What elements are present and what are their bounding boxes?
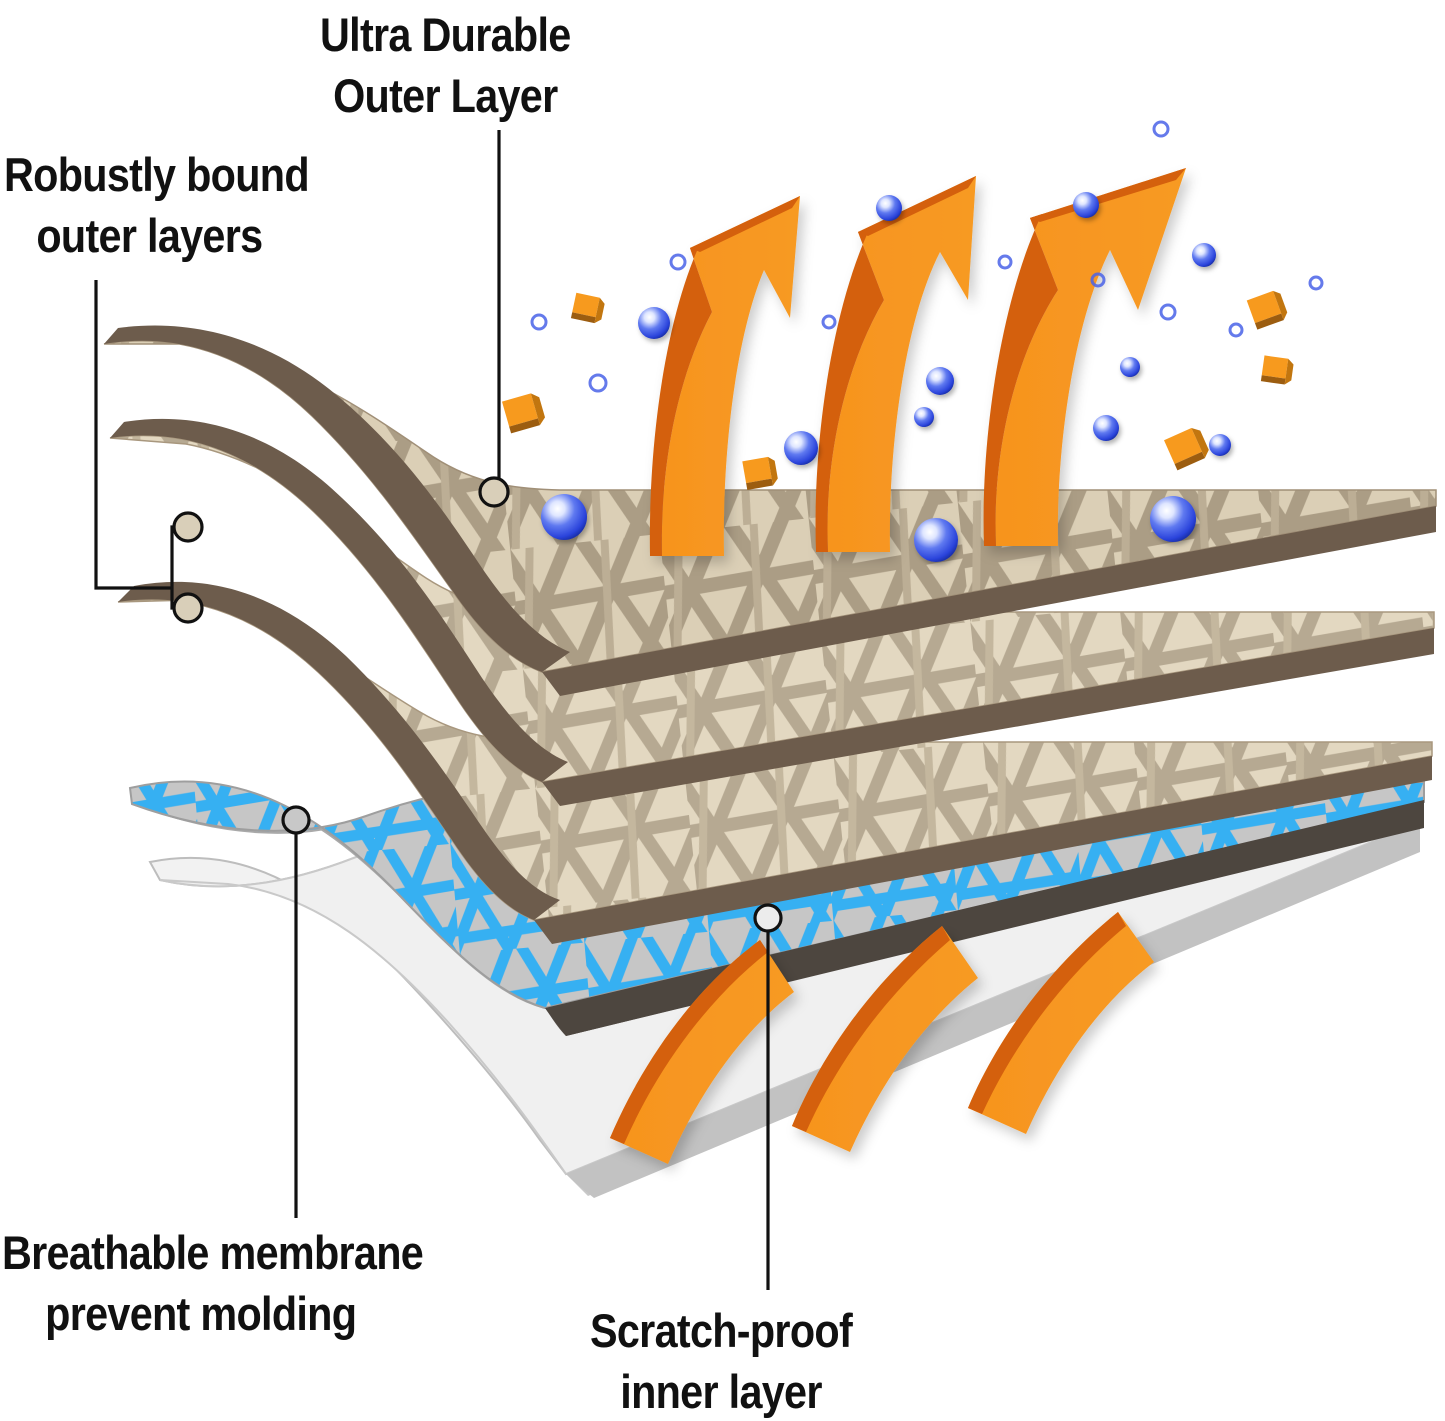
callout-marker-inner-layer [755, 905, 781, 931]
dirt-cube [1247, 289, 1290, 330]
moisture-bubble [926, 367, 954, 395]
moisture-bubble-ring [532, 315, 546, 329]
moisture-bubble [638, 307, 670, 339]
moisture-bubble-ring [1161, 305, 1175, 319]
label-inner-layer-line2: inner layer [620, 1365, 821, 1418]
label-bound-layers: Robustly bound outer layers [4, 144, 309, 266]
moisture-bubble [541, 494, 587, 540]
moisture-bubble-ring [999, 256, 1011, 268]
label-membrane-line1: Breathable membrane [2, 1226, 423, 1279]
moisture-bubble [1150, 496, 1196, 542]
dirt-cube [1181, 136, 1200, 154]
moisture-bubble [784, 431, 818, 465]
moisture-bubble-ring [1154, 122, 1168, 136]
dirt-cube [1164, 425, 1211, 470]
callout-marker-membrane [283, 807, 309, 833]
moisture-bubble [914, 407, 934, 427]
dirt-cube [571, 293, 606, 325]
callout-marker-outer-layer [480, 478, 508, 506]
dirt-cube [1261, 355, 1294, 385]
label-bound-layers-line1: Robustly bound [4, 148, 309, 201]
dirt-cube [502, 391, 547, 433]
moisture-bubble [1209, 434, 1231, 456]
moisture-bubble [876, 195, 902, 221]
moisture-bubble-ring [823, 316, 835, 328]
moisture-bubble-ring [1230, 324, 1242, 336]
dirt-cube [742, 456, 779, 490]
moisture-bubble [1192, 243, 1216, 267]
moisture-bubble-ring [1310, 277, 1322, 289]
moisture-bubble [1120, 357, 1140, 377]
moisture-bubble [1093, 415, 1119, 441]
label-membrane-line2: prevent molding [2, 1287, 356, 1340]
label-outer-layer: Ultra DurableOuter Layer [320, 4, 571, 126]
moisture-bubble-ring [590, 375, 606, 391]
label-membrane: Breathable membrane prevent molding [2, 1222, 423, 1344]
diagram-canvas: Ultra DurableOuter Layer Robustly bound … [0, 0, 1445, 1421]
label-inner-layer: Scratch-proofinner layer [590, 1300, 852, 1421]
moisture-bubble-ring [671, 255, 685, 269]
label-outer-layer-line1: Ultra Durable [320, 8, 571, 61]
moisture-bubble [914, 518, 958, 562]
callout-marker-bound-2 [174, 594, 202, 622]
callout-marker-bound-1 [174, 513, 202, 541]
label-bound-layers-line2: outer layers [4, 209, 262, 262]
label-outer-layer-line2: Outer Layer [333, 69, 557, 122]
label-inner-layer-line1: Scratch-proof [590, 1304, 852, 1357]
moisture-bubble [1073, 192, 1099, 218]
